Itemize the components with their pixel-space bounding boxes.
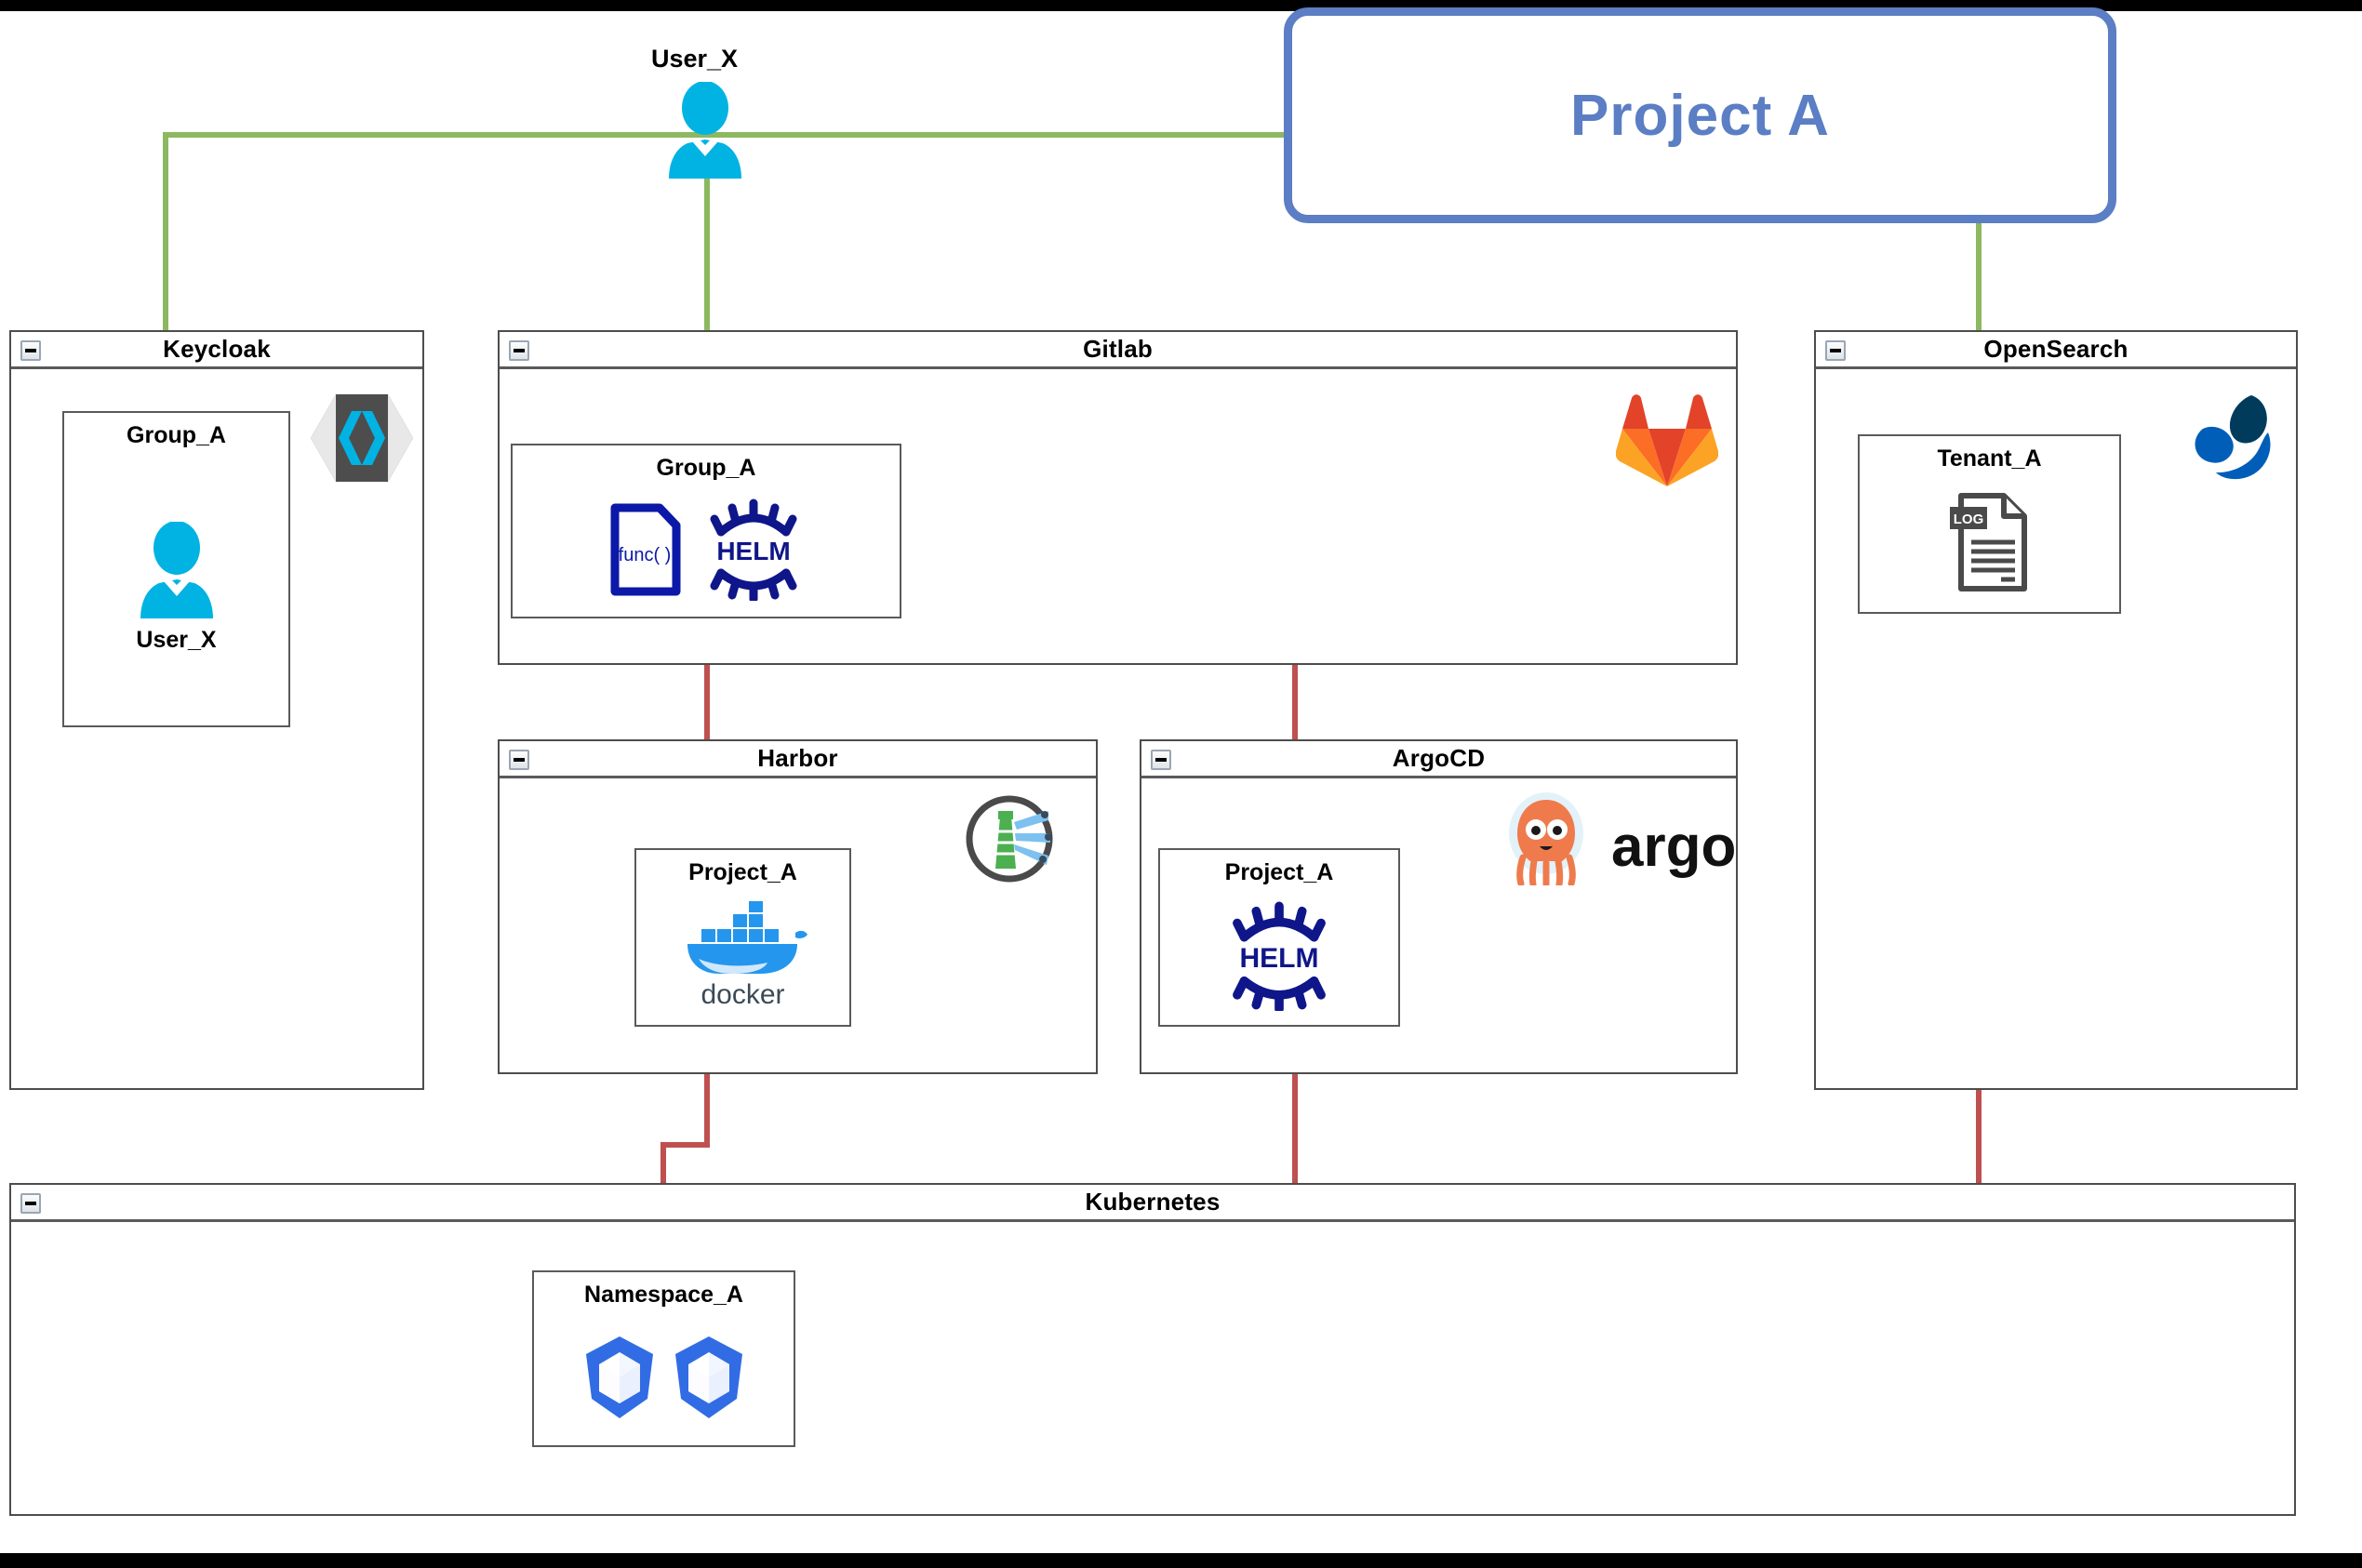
argo-logo bbox=[1504, 792, 1588, 885]
collapse-minus-icon[interactable] bbox=[20, 1193, 41, 1214]
panel-opensearch[interactable]: OpenSearch Tenant_A LOG bbox=[1814, 330, 2298, 1090]
collapse-minus-icon[interactable] bbox=[20, 340, 41, 361]
opensearch-logo bbox=[2179, 388, 2276, 485]
panel-harbor-title: Harbor bbox=[757, 744, 837, 773]
panel-keycloak-titlebar: Keycloak bbox=[11, 332, 422, 369]
node-body: LOG bbox=[1860, 472, 2119, 612]
svg-text:func( ): func( ) bbox=[619, 545, 672, 565]
node-keycloak-group-a[interactable]: Group_A User_X bbox=[62, 411, 290, 727]
collapse-minus-icon[interactable] bbox=[509, 340, 529, 361]
node-label: Group_A bbox=[127, 422, 226, 449]
user-x-label: User_X bbox=[651, 45, 738, 73]
panel-argocd[interactable]: ArgoCD argo Project_A HELM bbox=[1140, 739, 1738, 1074]
keycloak-logo bbox=[311, 392, 413, 484]
node-harbor-project-a[interactable]: Project_A docker bbox=[634, 848, 851, 1027]
panel-opensearch-title: OpenSearch bbox=[1983, 335, 2128, 364]
node-label: Tenant_A bbox=[1937, 445, 2041, 472]
panel-kubernetes-title: Kubernetes bbox=[1085, 1188, 1220, 1216]
panel-kubernetes-titlebar: Kubernetes bbox=[11, 1185, 2294, 1222]
node-label: Namespace_A bbox=[584, 1282, 743, 1309]
bottom-letterbox-bar bbox=[0, 1553, 2362, 1568]
node-body: docker bbox=[636, 886, 849, 1025]
panel-keycloak[interactable]: Keycloak Group_A User_X bbox=[9, 330, 424, 1090]
panel-gitlab-title: Gitlab bbox=[1083, 335, 1153, 364]
node-label: Group_A bbox=[657, 455, 756, 482]
panel-kubernetes[interactable]: Kubernetes Namespace_A bbox=[9, 1183, 2296, 1516]
helm-logo: HELM bbox=[1223, 901, 1335, 1011]
panel-argocd-titlebar: ArgoCD bbox=[1141, 741, 1736, 778]
panel-keycloak-title: Keycloak bbox=[163, 335, 271, 364]
log-document-icon: LOG bbox=[1948, 492, 2032, 592]
harbor-logo bbox=[963, 792, 1056, 885]
docker-wordmark: docker bbox=[701, 979, 784, 1011]
node-body: func( ) HELM bbox=[513, 482, 900, 617]
node-opensearch-tenant-a[interactable]: Tenant_A LOG bbox=[1858, 434, 2121, 614]
panel-opensearch-titlebar: OpenSearch bbox=[1816, 332, 2296, 369]
svg-text:HELM: HELM bbox=[716, 537, 790, 565]
node-body: User_X bbox=[64, 449, 288, 725]
docker-logo bbox=[678, 901, 808, 977]
helm-logo: HELM bbox=[702, 498, 805, 601]
panel-harbor-titlebar: Harbor bbox=[500, 741, 1096, 778]
panel-harbor[interactable]: Harbor Project_A bbox=[498, 739, 1098, 1074]
panel-gitlab[interactable]: Gitlab Group_A func( ) bbox=[498, 330, 1738, 665]
func-code-icon: func( ) bbox=[607, 503, 682, 596]
panel-gitlab-titlebar: Gitlab bbox=[500, 332, 1736, 369]
collapse-minus-icon[interactable] bbox=[1825, 340, 1846, 361]
node-sublabel: User_X bbox=[136, 627, 216, 654]
edge-harbor-to-k8s-h bbox=[661, 1142, 710, 1148]
svg-text:HELM: HELM bbox=[1239, 942, 1318, 973]
kubernetes-pod-icon bbox=[670, 1334, 748, 1421]
diagram-canvas: Project A User_X Keycloak Group_A bbox=[0, 0, 2362, 1568]
node-body bbox=[534, 1309, 794, 1445]
project-a-label: Project A bbox=[1570, 83, 1830, 149]
collapse-minus-icon[interactable] bbox=[1151, 750, 1171, 770]
argo-wordmark: argo bbox=[1611, 814, 1736, 880]
svg-text:LOG: LOG bbox=[1953, 512, 1983, 527]
node-gitlab-group-a[interactable]: Group_A func( ) HELM bbox=[511, 444, 901, 618]
panel-argocd-title: ArgoCD bbox=[1393, 744, 1485, 773]
user-icon bbox=[134, 522, 220, 619]
node-label: Project_A bbox=[1225, 859, 1334, 886]
user-icon bbox=[663, 82, 747, 179]
node-argocd-project-a[interactable]: Project_A HELM bbox=[1158, 848, 1400, 1027]
kubernetes-pod-icon bbox=[580, 1334, 659, 1421]
node-body: HELM bbox=[1160, 886, 1398, 1025]
node-label: Project_A bbox=[688, 859, 797, 886]
node-kubernetes-namespace-a[interactable]: Namespace_A bbox=[532, 1270, 795, 1447]
gitlab-logo bbox=[1616, 390, 1718, 487]
project-a-callout[interactable]: Project A bbox=[1284, 7, 2116, 223]
edge-user-to-keycloak bbox=[163, 132, 168, 346]
collapse-minus-icon[interactable] bbox=[509, 750, 529, 770]
